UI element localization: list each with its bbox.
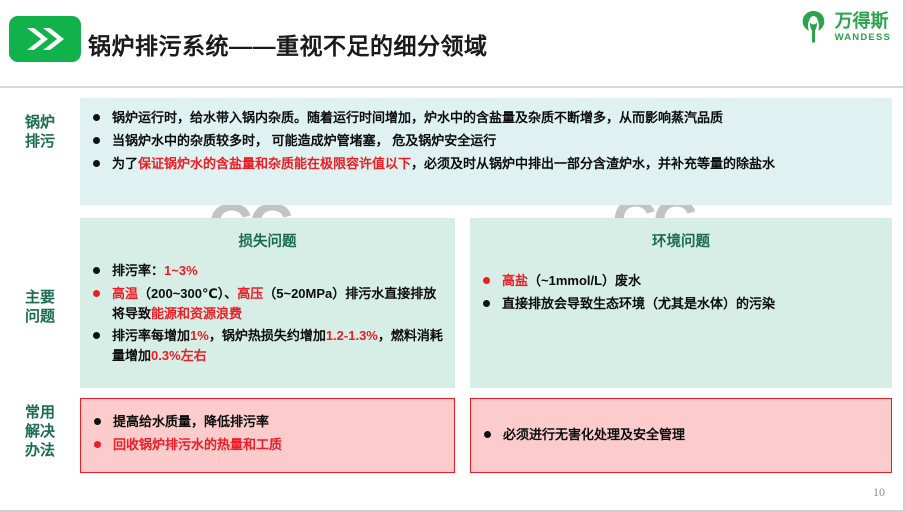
panel-solution-left: 提高给水质量，降低排污率回收锅炉排污水的热量和工质	[80, 398, 455, 473]
bullet-item: 直接排放会导致生态环境（尤其是水体）的污染	[478, 294, 880, 314]
row-label-line: 排污	[12, 132, 68, 151]
bullet-list-solution-left: 提高给水质量，降低排污率回收锅炉排污水的热量和工质	[89, 412, 442, 455]
row-label-boiler-blowdown: 锅炉 排污	[12, 113, 68, 151]
bullet-text-run: 高温	[112, 286, 138, 301]
bullet-text-run: 1~3%	[164, 263, 198, 278]
brand-logo: 万得斯 WANDESS	[797, 10, 891, 44]
bullet-dot-icon	[483, 300, 490, 307]
bullet-item: 排污率每增加1%，锅炉热损失约增加1.2-1.3%，燃料消耗量增加0.3%左右	[88, 326, 443, 366]
panel-solution-right: 必须进行无害化处理及安全管理	[470, 398, 892, 473]
row-label-line: 常用	[12, 403, 68, 422]
bullet-item: 回收锅炉排污水的热量和工质	[89, 435, 442, 455]
bullet-text-run: 必须进行无害化处理及安全管理	[503, 427, 685, 442]
bullet-list-environment: 高盐（~1mmol/L）废水直接排放会导致生态环境（尤其是水体）的污染	[478, 271, 880, 314]
row-label-common-solutions: 常用 解决 办法	[12, 403, 68, 461]
bullet-text-run: ，锅炉热损失约增加	[209, 328, 326, 343]
row-label-line: 锅炉	[12, 113, 68, 132]
bullet-text-run: 当锅炉水中的杂质较多时， 可能造成炉管堵塞， 危及锅炉安全运行	[112, 133, 496, 148]
bullet-text-run: 1%	[190, 328, 209, 343]
panel-environment-problem: 环境问题 高盐（~1mmol/L）废水直接排放会导致生态环境（尤其是水体）的污染	[470, 218, 892, 388]
row-label-line: 办法	[12, 441, 68, 460]
bullet-dot-icon	[484, 431, 491, 438]
panel-loss-heading: 损失问题	[80, 230, 455, 251]
bullet-dot-icon	[93, 267, 100, 274]
bullet-dot-icon	[94, 441, 101, 448]
bullet-dot-icon	[93, 137, 100, 144]
bullet-text-run: 锅炉运行时，给水带入锅内杂质。随着运行时间增加，炉水中的含盐量及杂质不断增多，从…	[112, 110, 723, 125]
bullet-text-run: 排污率每增加	[112, 328, 190, 343]
bullet-dot-icon	[93, 160, 100, 167]
bullet-item: 必须进行无害化处理及安全管理	[479, 425, 879, 445]
bullet-text-run: ，必须及时从锅炉中排出一部分含渣炉水，并补充等量的除盐水	[411, 156, 775, 171]
bullet-list-loss: 排污率：1~3%高温（200~300℃）、高压（5~20MPa）排污水直接排放将…	[88, 261, 443, 366]
header-divider	[0, 86, 905, 88]
bullet-text-run: 1.2-1.3%	[326, 328, 378, 343]
bullet-text-run: 0.3%左右	[151, 348, 207, 363]
slide-header: 锅炉排污系统——重视不足的细分领域 万得斯 WANDESS	[0, 0, 905, 88]
bullet-dot-icon	[483, 277, 490, 284]
bullet-text-run: 回收锅炉排污水的热量和工质	[113, 437, 282, 452]
bullet-item: 锅炉运行时，给水带入锅内杂质。随着运行时间增加，炉水中的含盐量及杂质不断增多，从…	[88, 108, 876, 128]
bullet-text-run: （200~300℃）、	[138, 286, 237, 301]
page-number: 10	[873, 485, 885, 500]
bullet-text-run: 高压	[237, 286, 263, 301]
brand-logo-text: 万得斯 WANDESS	[835, 12, 891, 43]
bullet-dot-icon	[93, 114, 100, 121]
bullet-dot-icon	[94, 418, 101, 425]
slide-root: 锅炉排污系统——重视不足的细分领域 万得斯 WANDESS CC CC 锅炉 排…	[0, 0, 905, 512]
bullet-text-run: 能源和资源浪费	[151, 306, 242, 321]
row-label-line: 主要	[12, 288, 68, 307]
row-label-line: 解决	[12, 422, 68, 441]
bullet-list-blowdown: 锅炉运行时，给水带入锅内杂质。随着运行时间增加，炉水中的含盐量及杂质不断增多，从…	[88, 108, 876, 173]
row-label-line: 问题	[12, 307, 68, 326]
bullet-dot-icon	[93, 290, 100, 297]
double-chevron-icon	[9, 16, 81, 62]
bullet-dot-icon	[93, 332, 100, 339]
bullet-item: 提高给水质量，降低排污率	[89, 412, 442, 432]
bullet-text-run: 直接排放会导致生态环境（尤其是水体）的污染	[502, 296, 775, 311]
bullet-text-run: 排污率：	[112, 263, 164, 278]
bullet-item: 高温（200~300℃）、高压（5~20MPa）排污水直接排放将导致能源和资源浪…	[88, 284, 443, 324]
bullet-text-run: 保证锅炉水的含盐量和杂质能在极限容许值以下	[138, 156, 411, 171]
page-title: 锅炉排污系统——重视不足的细分领域	[88, 27, 488, 61]
bullet-text-run: 提高给水质量，降低排污率	[113, 414, 269, 429]
bullet-list-solution-right: 必须进行无害化处理及安全管理	[479, 425, 879, 445]
brand-name-en: WANDESS	[835, 33, 891, 43]
bullet-text-run: 高盐	[502, 273, 528, 288]
bullet-text-run: （~1mmol/L）废水	[528, 273, 641, 288]
panel-boiler-blowdown: 锅炉运行时，给水带入锅内杂质。随着运行时间增加，炉水中的含盐量及杂质不断增多，从…	[80, 98, 892, 205]
bullet-item: 高盐（~1mmol/L）废水	[478, 271, 880, 291]
bullet-item: 当锅炉水中的杂质较多时， 可能造成炉管堵塞， 危及锅炉安全运行	[88, 131, 876, 151]
panel-environment-heading: 环境问题	[470, 230, 892, 251]
bullet-text-run: 为了	[112, 156, 138, 171]
brand-name-cn: 万得斯	[835, 12, 891, 30]
row-label-main-problems: 主要 问题	[12, 288, 68, 326]
wandess-leaf-icon	[797, 10, 830, 44]
panel-loss-problem: 损失问题 排污率：1~3%高温（200~300℃）、高压（5~20MPa）排污水…	[80, 218, 455, 388]
bullet-item: 为了保证锅炉水的含盐量和杂质能在极限容许值以下，必须及时从锅炉中排出一部分含渣炉…	[88, 154, 876, 174]
bullet-item: 排污率：1~3%	[88, 261, 443, 281]
